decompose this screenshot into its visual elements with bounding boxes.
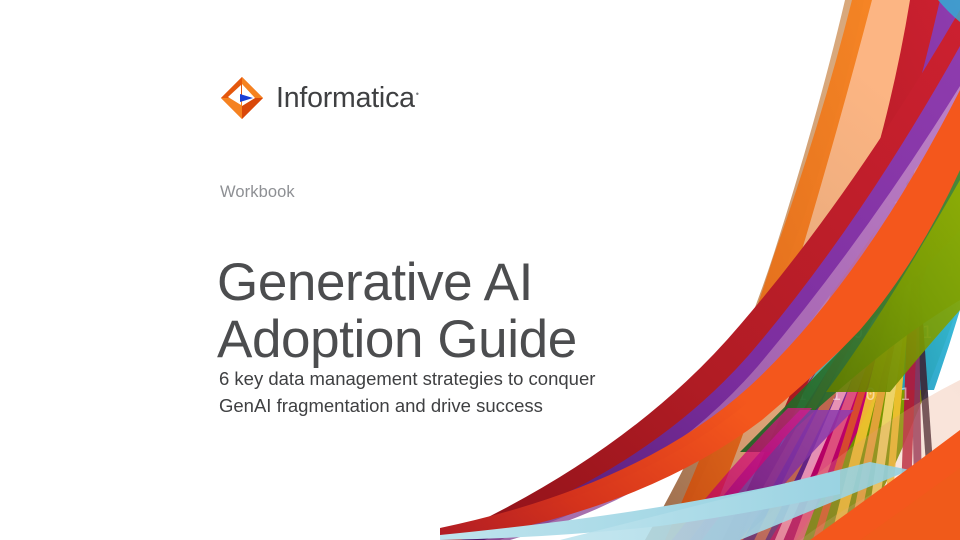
svg-text:1 0 2: 1 0 2 <box>825 75 911 95</box>
svg-text:1 1 1: 1 1 1 <box>892 199 960 219</box>
wordmark-text: Informatica <box>276 82 415 114</box>
svg-text:1 0 0 0 1: 1 0 0 0 1 <box>838 139 960 159</box>
svg-text:0 1 1 0 1 1: 0 1 1 0 1 1 <box>800 107 960 127</box>
page-subtitle: 6 key data management strategies to conq… <box>219 365 595 419</box>
informatica-wordmark: Informatica• <box>276 84 419 113</box>
svg-text:1 1 1: 1 1 1 <box>870 43 956 63</box>
svg-text:0 1 1 0 1 1: 0 1 1 0 1 1 <box>770 229 960 249</box>
informatica-logo: Informatica• <box>219 74 419 122</box>
svg-text:1 1 0 0 1: 1 1 0 0 1 <box>860 171 960 191</box>
page-title: Generative AI Adoption Guide <box>217 254 577 369</box>
svg-text:1 1 1 0 1: 1 1 1 0 1 <box>762 385 917 405</box>
svg-text:0 1 1 1: 0 1 1 1 <box>740 291 861 311</box>
svg-text:1 1 0 0 1 1: 1 1 0 0 1 1 <box>808 261 960 281</box>
binary-digits-overlay: 1 1 1 1 0 2 0 1 1 0 1 1 1 0 0 0 1 1 1 0 … <box>726 43 960 405</box>
trademark-mark: • <box>416 89 419 99</box>
svg-text:1 1 0 1 1: 1 1 0 1 1 <box>784 323 939 343</box>
cover-page: 1 1 1 1 0 2 0 1 1 0 1 1 1 0 0 0 1 1 1 0 … <box>0 0 960 540</box>
informatica-diamond-icon <box>219 75 265 121</box>
document-type-label: Workbook <box>220 183 295 202</box>
svg-text:0 1 1: 0 1 1 <box>726 353 812 373</box>
